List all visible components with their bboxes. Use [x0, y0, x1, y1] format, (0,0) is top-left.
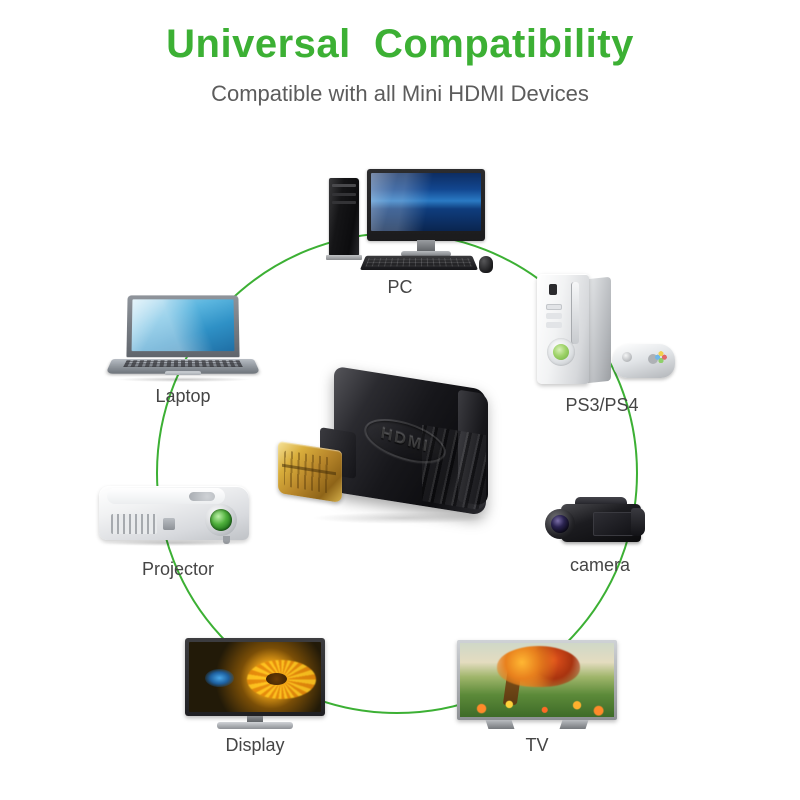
device-label-pc: PC [300, 278, 500, 298]
field-flowers [460, 696, 614, 717]
display-stand-foot [217, 722, 293, 729]
tv-bezel [457, 640, 617, 720]
device-node-console[interactable]: PS3/PS4 [522, 272, 682, 416]
device-node-tv[interactable]: TV [452, 640, 622, 756]
console-disc-slot [571, 282, 579, 344]
camcorder-lens [551, 515, 569, 533]
projector-lens [210, 509, 232, 531]
butterfly [205, 669, 234, 687]
laptop-keyboard [123, 360, 243, 367]
tree-canopy [497, 646, 580, 687]
device-label-console: PS3/PS4 [522, 396, 682, 416]
mini-hdmi-adapter: HDMI [272, 372, 520, 550]
projector-badge [163, 518, 175, 530]
laptop-touchpad [165, 371, 202, 375]
camcorder-icon [535, 490, 665, 554]
monitor-display-icon [185, 638, 325, 734]
tv-screen-image [460, 643, 614, 717]
laptop-icon [103, 295, 263, 385]
device-label-camera: camera [530, 556, 670, 576]
console-power-ring [547, 338, 575, 366]
display-screen-image [189, 642, 321, 712]
laptop-shadow [117, 377, 249, 382]
tv-stand-left [486, 720, 515, 729]
device-label-tv: TV [452, 736, 622, 756]
pc-monitor [367, 169, 485, 241]
device-node-display[interactable]: Display [180, 638, 330, 756]
compatibility-diagram: PC Laptop Projector [0, 0, 800, 800]
device-label-projector: Projector [88, 560, 268, 580]
console-buttons [546, 304, 562, 310]
television-icon [457, 640, 617, 734]
desktop-computer-icon [305, 166, 495, 276]
game-console-icon [527, 272, 677, 394]
console-body [537, 274, 589, 384]
projector-controls [189, 492, 215, 501]
display-bezel [185, 638, 325, 716]
laptop-screen [132, 299, 235, 351]
pc-keyboard [360, 256, 478, 270]
pc-tower [329, 178, 359, 256]
device-node-laptop[interactable]: Laptop [98, 295, 268, 407]
console-gamepad [613, 344, 675, 378]
laptop-lid [126, 295, 239, 357]
device-label-display: Display [180, 736, 330, 756]
projector-vent [111, 514, 157, 534]
device-label-laptop: Laptop [98, 387, 268, 407]
sunflower-core [266, 673, 287, 686]
device-node-pc[interactable]: PC [300, 166, 500, 298]
pc-screen [371, 173, 481, 231]
projector-icon [93, 478, 263, 558]
console-port [549, 284, 557, 295]
pc-mouse [479, 256, 493, 273]
console-side-panel [587, 277, 611, 384]
device-node-projector[interactable]: Projector [88, 478, 268, 580]
device-node-camera[interactable]: camera [530, 490, 670, 576]
adapter-shadow [312, 512, 492, 524]
tv-stand-right [560, 720, 589, 729]
pc-tower-base [326, 255, 362, 260]
projector-shadow [103, 540, 245, 546]
camcorder-grip [631, 508, 645, 536]
